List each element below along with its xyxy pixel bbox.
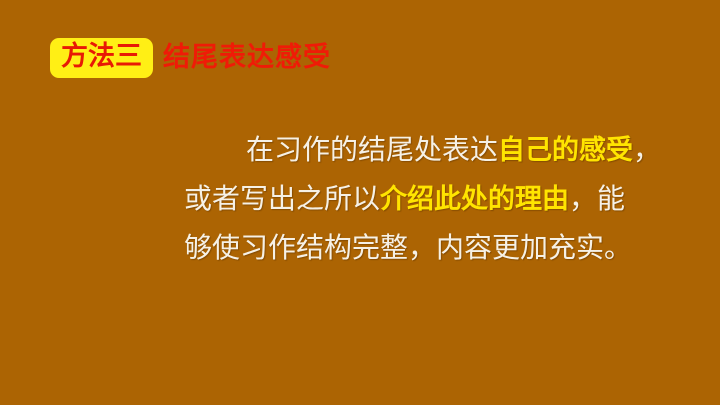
body-paragraph: 在习作的结尾处表达自己的感受， 或者写出之所以介绍此处的理由，能 够使习作结构完… <box>184 126 658 272</box>
slide-canvas: 方法三 结尾表达感受 在习作的结尾处表达自己的感受， 或者写出之所以介绍此处的理… <box>0 0 720 405</box>
paragraph-line-2: 或者写出之所以介绍此处的理由，能 <box>184 175 658 224</box>
paragraph-line-1: 在习作的结尾处表达自己的感受， <box>184 126 658 175</box>
line-2-segment-3: ，能 <box>569 182 625 215</box>
line-2-segment-1: 或者写出之所以 <box>184 182 380 215</box>
method-badge: 方法三 <box>50 38 153 78</box>
line-1-segment-3: ， <box>633 133 661 166</box>
slide-heading: 结尾表达感受 <box>163 43 331 73</box>
line-3-segment-1: 够使习作结构完整，内容更加充实。 <box>184 231 632 264</box>
slide-header: 方法三 结尾表达感受 <box>50 38 331 78</box>
line-1-segment-1: 在习作的结尾处表达 <box>246 133 498 166</box>
line-1-highlight: 自己的感受 <box>498 135 633 166</box>
method-badge-label: 方法三 <box>61 42 142 72</box>
line-2-highlight: 介绍此处的理由 <box>380 184 569 215</box>
paragraph-line-3: 够使习作结构完整，内容更加充实。 <box>184 224 658 272</box>
